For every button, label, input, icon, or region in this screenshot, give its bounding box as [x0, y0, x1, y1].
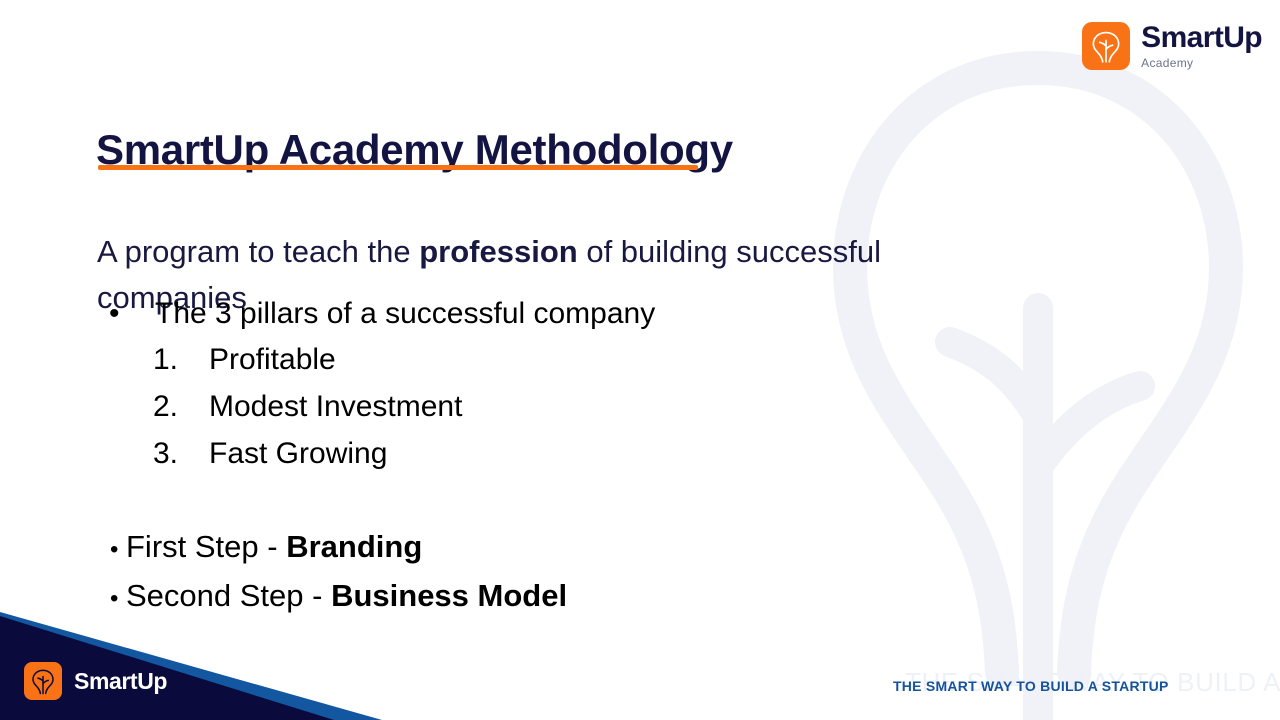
pillars-numbered-list: 1. Profitable 2. Modest Investment 3. Fa…: [97, 345, 655, 469]
step-prefix: First Step -: [126, 529, 286, 564]
footer-brand-text: SmartUp: [74, 668, 167, 695]
bullet-icon: •: [110, 538, 126, 562]
list-item-number: 1.: [97, 345, 153, 375]
list-item: 2. Modest Investment: [97, 392, 655, 422]
footer-tagline: THE SMART WAY TO BUILD A STARTUP: [893, 678, 1169, 694]
footer-logo[interactable]: SmartUp: [24, 662, 167, 700]
list-item-label: Modest Investment: [153, 392, 462, 422]
step-emphasis: Branding: [286, 529, 422, 564]
list-item: • First Step - Branding: [110, 531, 567, 562]
list-item-label: Fast Growing: [153, 439, 387, 469]
slide-canvas: THE SMART WAY TO BUILD A STARTUP SmartUp…: [0, 0, 1280, 720]
list-item-number: 3.: [97, 439, 153, 469]
tree-bulb-watermark-icon: [828, 46, 1248, 720]
logo-subtitle-text: Academy: [1141, 57, 1262, 69]
bullet-icon: •: [110, 587, 126, 611]
list-item: 1. Profitable: [97, 345, 655, 375]
list-item: 3. Fast Growing: [97, 439, 655, 469]
intro-text-emphasis: profession: [419, 234, 577, 269]
header-logo[interactable]: SmartUp Academy: [1082, 22, 1262, 70]
tree-bulb-icon: [1082, 22, 1130, 70]
steps-block: • First Step - Branding • Second Step - …: [110, 531, 567, 629]
pillars-heading-label: The 3 pillars of a successful company: [155, 299, 655, 329]
step-emphasis: Business Model: [331, 578, 567, 613]
pillars-heading: • The 3 pillars of a successful company: [97, 299, 655, 329]
logo-brand-text: SmartUp: [1141, 23, 1262, 53]
intro-text-before: A program to teach the: [97, 234, 419, 269]
step-label: Second Step - Business Model: [126, 580, 567, 611]
step-label: First Step - Branding: [126, 531, 422, 562]
pillars-block: • The 3 pillars of a successful company …: [97, 299, 655, 486]
logo-wordmark: SmartUp Academy: [1141, 23, 1262, 69]
step-prefix: Second Step -: [126, 578, 331, 613]
list-item-number: 2.: [97, 392, 153, 422]
title-underline-rule: [98, 165, 698, 170]
tree-bulb-icon: [24, 662, 62, 700]
list-item: • Second Step - Business Model: [110, 580, 567, 611]
list-item-label: Profitable: [153, 345, 336, 375]
bullet-icon: •: [97, 299, 155, 329]
